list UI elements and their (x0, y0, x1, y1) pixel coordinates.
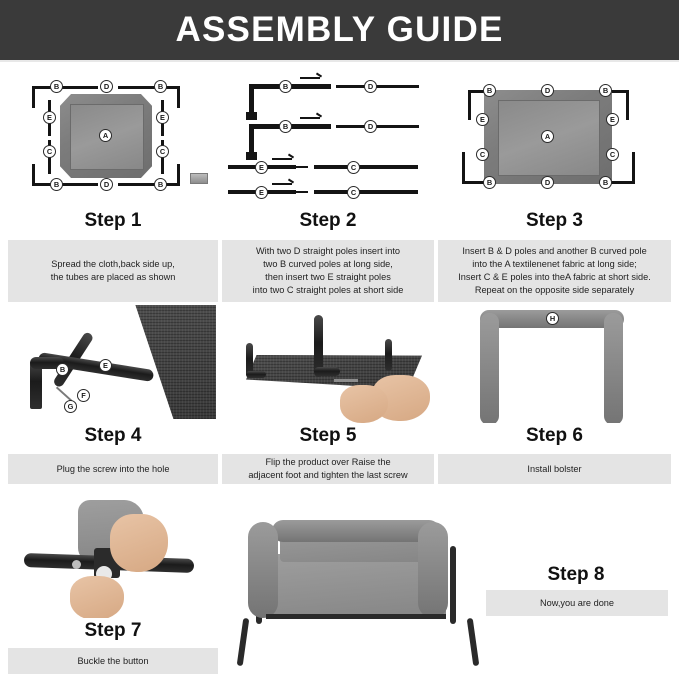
leg-bottom-right-foot (611, 181, 635, 184)
leg-center-curve (314, 367, 340, 376)
pole-c-horizontal-2 (314, 190, 418, 194)
bed-leg-front-right (467, 618, 480, 666)
marker-d-top: D (541, 84, 554, 97)
marker-e-right: E (606, 113, 619, 126)
pole-top-corner-right (177, 86, 180, 108)
marker-d-pole-2: D (364, 120, 377, 133)
step-6-photo: H (438, 305, 671, 423)
step-3-diagram: B D B E E C C A B D B (438, 68, 671, 208)
bolster-right-arm (604, 313, 623, 423)
marker-e-pole-1: E (255, 161, 268, 174)
step-8-caption: Now,you are done (486, 590, 668, 616)
marker-e-left: E (43, 111, 56, 124)
marker-b-bottom-right: B (599, 176, 612, 189)
step-5-caption-text: Flip the product over Raise the adjacent… (228, 456, 428, 482)
step-7-caption-text: Buckle the button (14, 655, 212, 668)
pole-e-tip-2 (292, 191, 308, 193)
bolster-right (418, 522, 448, 618)
step-5-caption: Flip the product over Raise the adjacent… (222, 454, 434, 484)
step-panel-7: Step 7 Buckle the button (8, 500, 218, 674)
step-2-diagram: B D B D E C E C (222, 68, 434, 208)
marker-d-top: D (100, 80, 113, 93)
step-3-caption-text: Insert B & D poles and another B curved … (444, 245, 665, 297)
marker-b-top-left: B (50, 80, 63, 93)
leg-top-right (626, 90, 629, 120)
pole-bottom-corner-right (177, 164, 180, 186)
marker-b-bottom-right: B (154, 178, 167, 191)
page-title: ASSEMBLY GUIDE (176, 10, 504, 50)
marker-h-bolster: H (546, 312, 559, 325)
pole-e-tip-1 (292, 166, 308, 168)
step-1-caption-text: Spread the cloth,back side up, the tubes… (14, 258, 212, 284)
step-2-caption: With two D straight poles insert into tw… (222, 240, 434, 302)
step-6-label: Step 6 (438, 425, 671, 447)
step-4-caption-text: Plug the screw into the hole (14, 463, 212, 476)
bed-leg-back-right (450, 546, 456, 624)
step-1-label: Step 1 (8, 210, 218, 232)
marker-a-center: A (541, 130, 554, 143)
pole-top-right (118, 86, 180, 89)
marker-e-left: E (476, 113, 489, 126)
step-panel-2: B D B D E C E C (222, 68, 434, 302)
rivet (72, 560, 81, 569)
marker-e-pole-2: E (255, 186, 268, 199)
marker-b-top-right: B (154, 80, 167, 93)
step-panel-8: Step 8 Now,you are done (222, 500, 671, 672)
step-8-photo: Step 8 Now,you are done (222, 500, 671, 672)
marker-d-bottom: D (100, 178, 113, 191)
step-3-caption: Insert B & D poles and another B curved … (438, 240, 671, 302)
marker-d-pole-1: D (364, 80, 377, 93)
marker-b-bottom-left: B (50, 178, 63, 191)
leg-bottom-left (462, 152, 465, 184)
step-8-caption-text: Now,you are done (492, 597, 662, 610)
bolster-left (248, 522, 278, 618)
step-8-label: Step 8 (486, 564, 666, 586)
step-panel-5: Step 5 Flip the product over Raise the a… (222, 305, 434, 484)
arrow-shaft-3 (272, 158, 292, 160)
marker-d-bottom: D (541, 176, 554, 189)
step-4-label: Step 4 (8, 425, 218, 447)
pole-top-left (32, 86, 98, 89)
step-1-diagram: B D B E E C C A B D B (8, 68, 218, 208)
hand-lower (70, 576, 124, 618)
bed-crossbar (266, 614, 446, 619)
marker-g-screw: G (64, 400, 77, 413)
steps-grid: B D B E E C C A B D B Step 1 Spread the … (0, 62, 679, 677)
step-2-caption-text: With two D straight poles insert into tw… (228, 245, 428, 297)
marker-c-left: C (43, 145, 56, 158)
arrow-shaft-4 (272, 183, 292, 185)
step-panel-6: H Step 6 Install bolster (438, 305, 671, 484)
pole-d-horizontal-1 (336, 85, 419, 88)
leg-right-upright (385, 339, 392, 371)
pole-d-horizontal-2 (336, 125, 419, 128)
pole-bottom-right (118, 183, 180, 186)
hand-upper (110, 514, 168, 572)
pole-b-foot-1 (246, 112, 257, 120)
screw-icon (190, 173, 208, 184)
marker-a-center: A (99, 129, 112, 142)
marker-b-top-left: B (483, 84, 496, 97)
pole-c-horizontal-1 (314, 165, 418, 169)
bolster-left-arm (480, 313, 499, 423)
step-4-photo: B E F G (8, 305, 218, 423)
pole-bottom-left (32, 183, 98, 186)
step-7-caption: Buckle the button (8, 648, 218, 674)
marker-c-right: C (606, 148, 619, 161)
step-6-caption-text: Install bolster (444, 463, 665, 476)
bed-leg-front-left (237, 618, 250, 666)
marker-b-bottom-left: B (483, 176, 496, 189)
pole-top-corner-left (32, 86, 35, 108)
marker-b-pole-1: B (279, 80, 292, 93)
step-7-photo (8, 500, 218, 618)
marker-c-pole-2: C (347, 186, 360, 199)
arrow-shaft-1 (300, 77, 320, 79)
step-5-label: Step 5 (222, 425, 434, 447)
step-panel-4: B E F G Step 4 Plug the screw into the h… (8, 305, 218, 484)
leg-left-curve (246, 371, 266, 378)
assembly-guide-header: ASSEMBLY GUIDE (0, 0, 679, 60)
marker-b-top-right: B (599, 84, 612, 97)
marker-f-screw: F (77, 389, 90, 402)
marker-b-corner: B (56, 363, 69, 376)
step-2-label: Step 2 (222, 210, 434, 232)
step-6-caption: Install bolster (438, 454, 671, 484)
step-5-photo (222, 305, 434, 423)
leg-bottom-right (632, 152, 635, 184)
marker-c-pole-1: C (347, 161, 360, 174)
marker-c-left: C (476, 148, 489, 161)
hand-left (340, 385, 388, 423)
step-panel-3: B D B E E C C A B D B Step 3 Insert B & … (438, 68, 671, 302)
step-7-label: Step 7 (8, 620, 218, 642)
step-4-caption: Plug the screw into the hole (8, 454, 218, 484)
arrow-shaft-2 (300, 117, 320, 119)
leg-top-left (468, 90, 471, 120)
step-panel-1: B D B E E C C A B D B Step 1 Spread the … (8, 68, 218, 302)
marker-b-pole-2: B (279, 120, 292, 133)
bolster-back (272, 520, 440, 542)
step-1-caption: Spread the cloth,back side up, the tubes… (8, 240, 218, 302)
marker-e-corner: E (99, 359, 112, 372)
marker-e-right: E (156, 111, 169, 124)
screwdriver (334, 379, 358, 382)
pole-bottom-corner-left (32, 164, 35, 186)
mesh-fabric (104, 305, 216, 419)
marker-c-right: C (156, 145, 169, 158)
pole-b-foot-2 (246, 152, 257, 160)
step-3-label: Step 3 (438, 210, 671, 232)
